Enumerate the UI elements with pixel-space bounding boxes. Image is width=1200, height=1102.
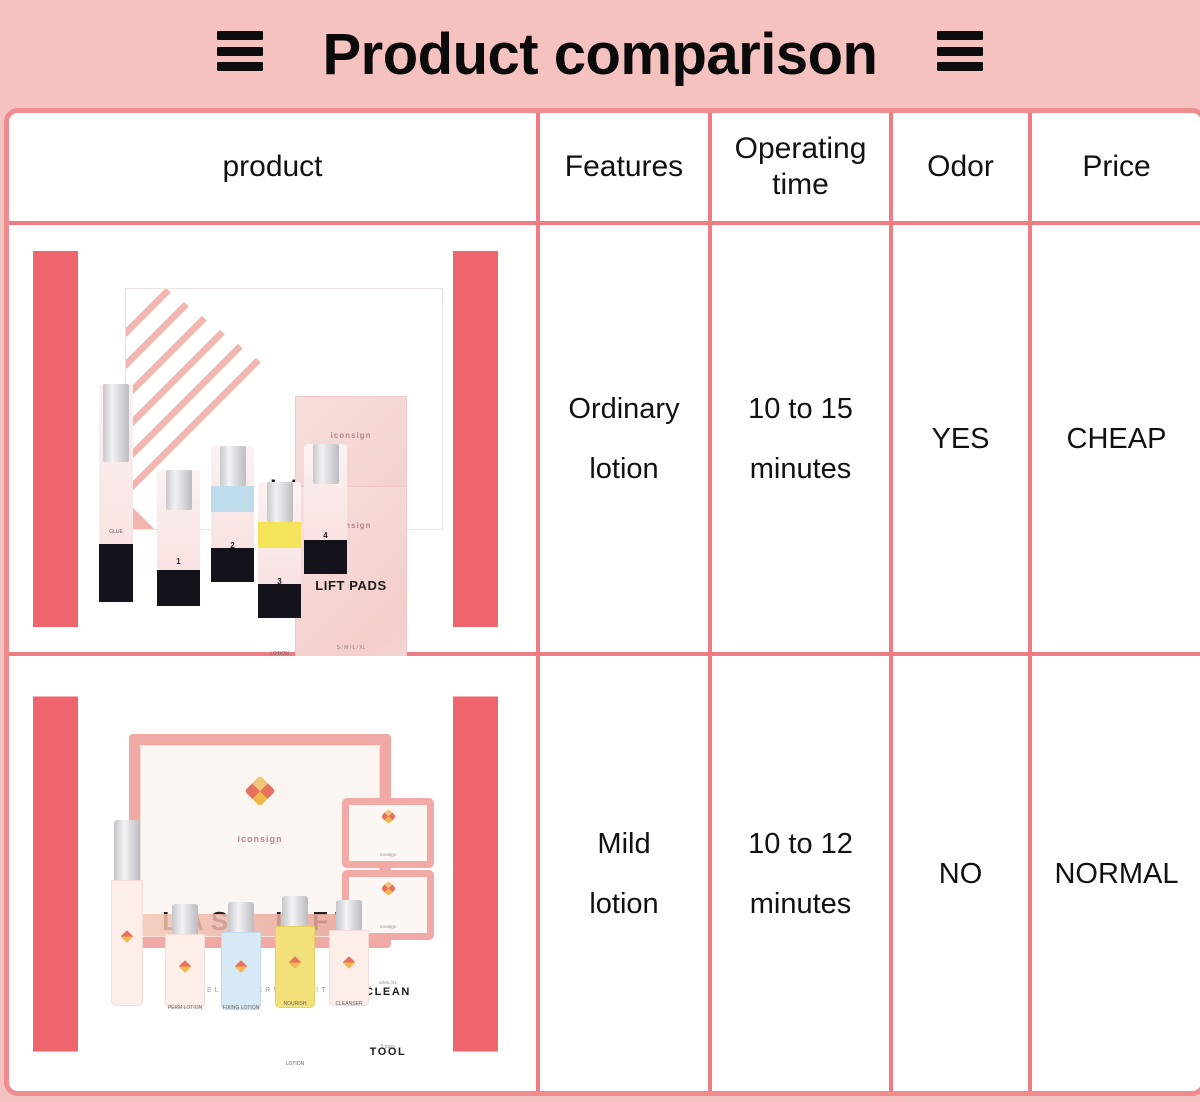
bottle-cap bbox=[103, 384, 129, 462]
hamburger-menu-icon-right[interactable] bbox=[937, 31, 983, 71]
table-row: iconsign LASH LIFT lash lotion + fixer +… bbox=[9, 225, 1200, 656]
comparison-table-wrapper: product Features Operating time Odor Pri… bbox=[4, 108, 1196, 1098]
bottle-1: PERM LOTION bbox=[165, 904, 205, 1008]
column-header-features: Features bbox=[540, 113, 712, 225]
product-photo-2: iconsign LASH LIFT EYELASH PERMING KIT i… bbox=[99, 724, 439, 1024]
bottle-liquid bbox=[211, 486, 254, 512]
cell-features-1: Ordinary lotion bbox=[540, 225, 712, 656]
product-comparison-table: product Features Operating time Odor Pri… bbox=[4, 108, 1200, 1096]
table-row: iconsign LASH LIFT EYELASH PERMING KIT i… bbox=[9, 656, 1200, 1091]
bottle-3: 3 NOURISH LOTION bbox=[258, 482, 301, 618]
bottle-glue bbox=[111, 820, 143, 1006]
product-image-cell-2: iconsign LASH LIFT EYELASH PERMING KIT i… bbox=[9, 656, 540, 1091]
column-header-operating-time: Operating time bbox=[712, 113, 893, 225]
cell-odor-2: NO bbox=[893, 656, 1032, 1091]
bottle-cap bbox=[313, 444, 339, 484]
bottle-cap bbox=[166, 470, 192, 510]
menu-bar bbox=[937, 62, 983, 71]
operating-time-line2: time bbox=[772, 168, 829, 201]
product-image-cell-1: iconsign LASH LIFT lash lotion + fixer +… bbox=[9, 225, 540, 656]
bottle-label: FIXING LOTION bbox=[221, 978, 261, 1038]
time-line1: 10 to 12 bbox=[712, 814, 889, 874]
cell-features-2: Mild lotion bbox=[540, 656, 712, 1091]
accent-bar-right bbox=[453, 696, 498, 1051]
carton-desc: 2 Heads 1 Brushes bbox=[349, 1085, 427, 1096]
bottle-cap bbox=[267, 482, 293, 522]
accent-bar-left bbox=[33, 251, 78, 627]
cell-operating-time-1: 10 to 15 minutes bbox=[712, 225, 893, 656]
time-line1: 10 to 15 bbox=[712, 379, 889, 439]
bottle-3: NOURISH LOTION bbox=[275, 896, 315, 1008]
cell-price-2: NORMAL bbox=[1032, 656, 1200, 1091]
hamburger-menu-icon-left[interactable] bbox=[217, 31, 263, 71]
diamond-logo-icon bbox=[380, 808, 396, 824]
bottle-1: 1 PERM LOTION bbox=[157, 470, 200, 606]
page-title: Product comparison bbox=[323, 21, 878, 89]
bottle-cap bbox=[220, 446, 246, 486]
features-line1: Mild bbox=[540, 814, 708, 874]
table-header-row: product Features Operating time Odor Pri… bbox=[9, 113, 1200, 225]
cell-odor-1: YES bbox=[893, 225, 1032, 656]
features-line1: Ordinary bbox=[540, 379, 708, 439]
bottle-2: 2 FIXING LOTION bbox=[211, 446, 254, 582]
menu-bar bbox=[217, 47, 263, 56]
bottle-label: PERM LOTION bbox=[165, 978, 205, 1038]
bottle-liquid bbox=[258, 522, 301, 548]
bottle-label: NOURISH LOTION bbox=[275, 974, 315, 1094]
bottle-4: CLEANSER bbox=[329, 900, 369, 1006]
product-stage-1: iconsign LASH LIFT lash lotion + fixer +… bbox=[9, 225, 536, 652]
diamond-logo-icon bbox=[380, 880, 396, 896]
cell-operating-time-2: 10 to 12 minutes bbox=[712, 656, 893, 1091]
time-line2: minutes bbox=[712, 439, 889, 499]
bottle-label: CLEANSER bbox=[329, 974, 369, 1034]
column-header-product: product bbox=[9, 113, 540, 225]
page-header: Product comparison bbox=[0, 0, 1200, 108]
bottle-2: FIXING LOTION bbox=[221, 902, 261, 1010]
accent-bar-right bbox=[453, 251, 498, 627]
product-photo-1: iconsign LASH LIFT lash lotion + fixer +… bbox=[99, 274, 439, 604]
bottle-4: 4 CLEANSER bbox=[304, 444, 347, 574]
menu-bar bbox=[217, 62, 263, 71]
bottle-base bbox=[99, 544, 133, 602]
column-header-price: Price bbox=[1032, 113, 1200, 225]
operating-time-line1: Operating bbox=[735, 132, 867, 165]
features-line2: lotion bbox=[540, 874, 708, 934]
menu-bar bbox=[217, 31, 263, 40]
bottle-base bbox=[258, 584, 301, 618]
product-stage-2: iconsign LASH LIFT EYELASH PERMING KIT i… bbox=[9, 656, 536, 1091]
features-line2: lotion bbox=[540, 439, 708, 499]
column-header-odor: Odor bbox=[893, 113, 1032, 225]
bottle-base bbox=[211, 548, 254, 582]
bottle-glue: GLUE bbox=[99, 384, 133, 602]
cell-price-1: CHEAP bbox=[1032, 225, 1200, 656]
menu-bar bbox=[937, 47, 983, 56]
menu-bar bbox=[937, 31, 983, 40]
time-line2: minutes bbox=[712, 874, 889, 934]
carton-lift-pads: iconsign LIFT PADS S/M/L/XL 5 pairs bbox=[342, 798, 434, 868]
bottle-base bbox=[157, 570, 200, 606]
accent-bar-left bbox=[33, 696, 78, 1051]
brand-logo-icon bbox=[247, 780, 273, 806]
diamond-logo-icon bbox=[244, 775, 275, 806]
bottle-base bbox=[304, 540, 347, 574]
